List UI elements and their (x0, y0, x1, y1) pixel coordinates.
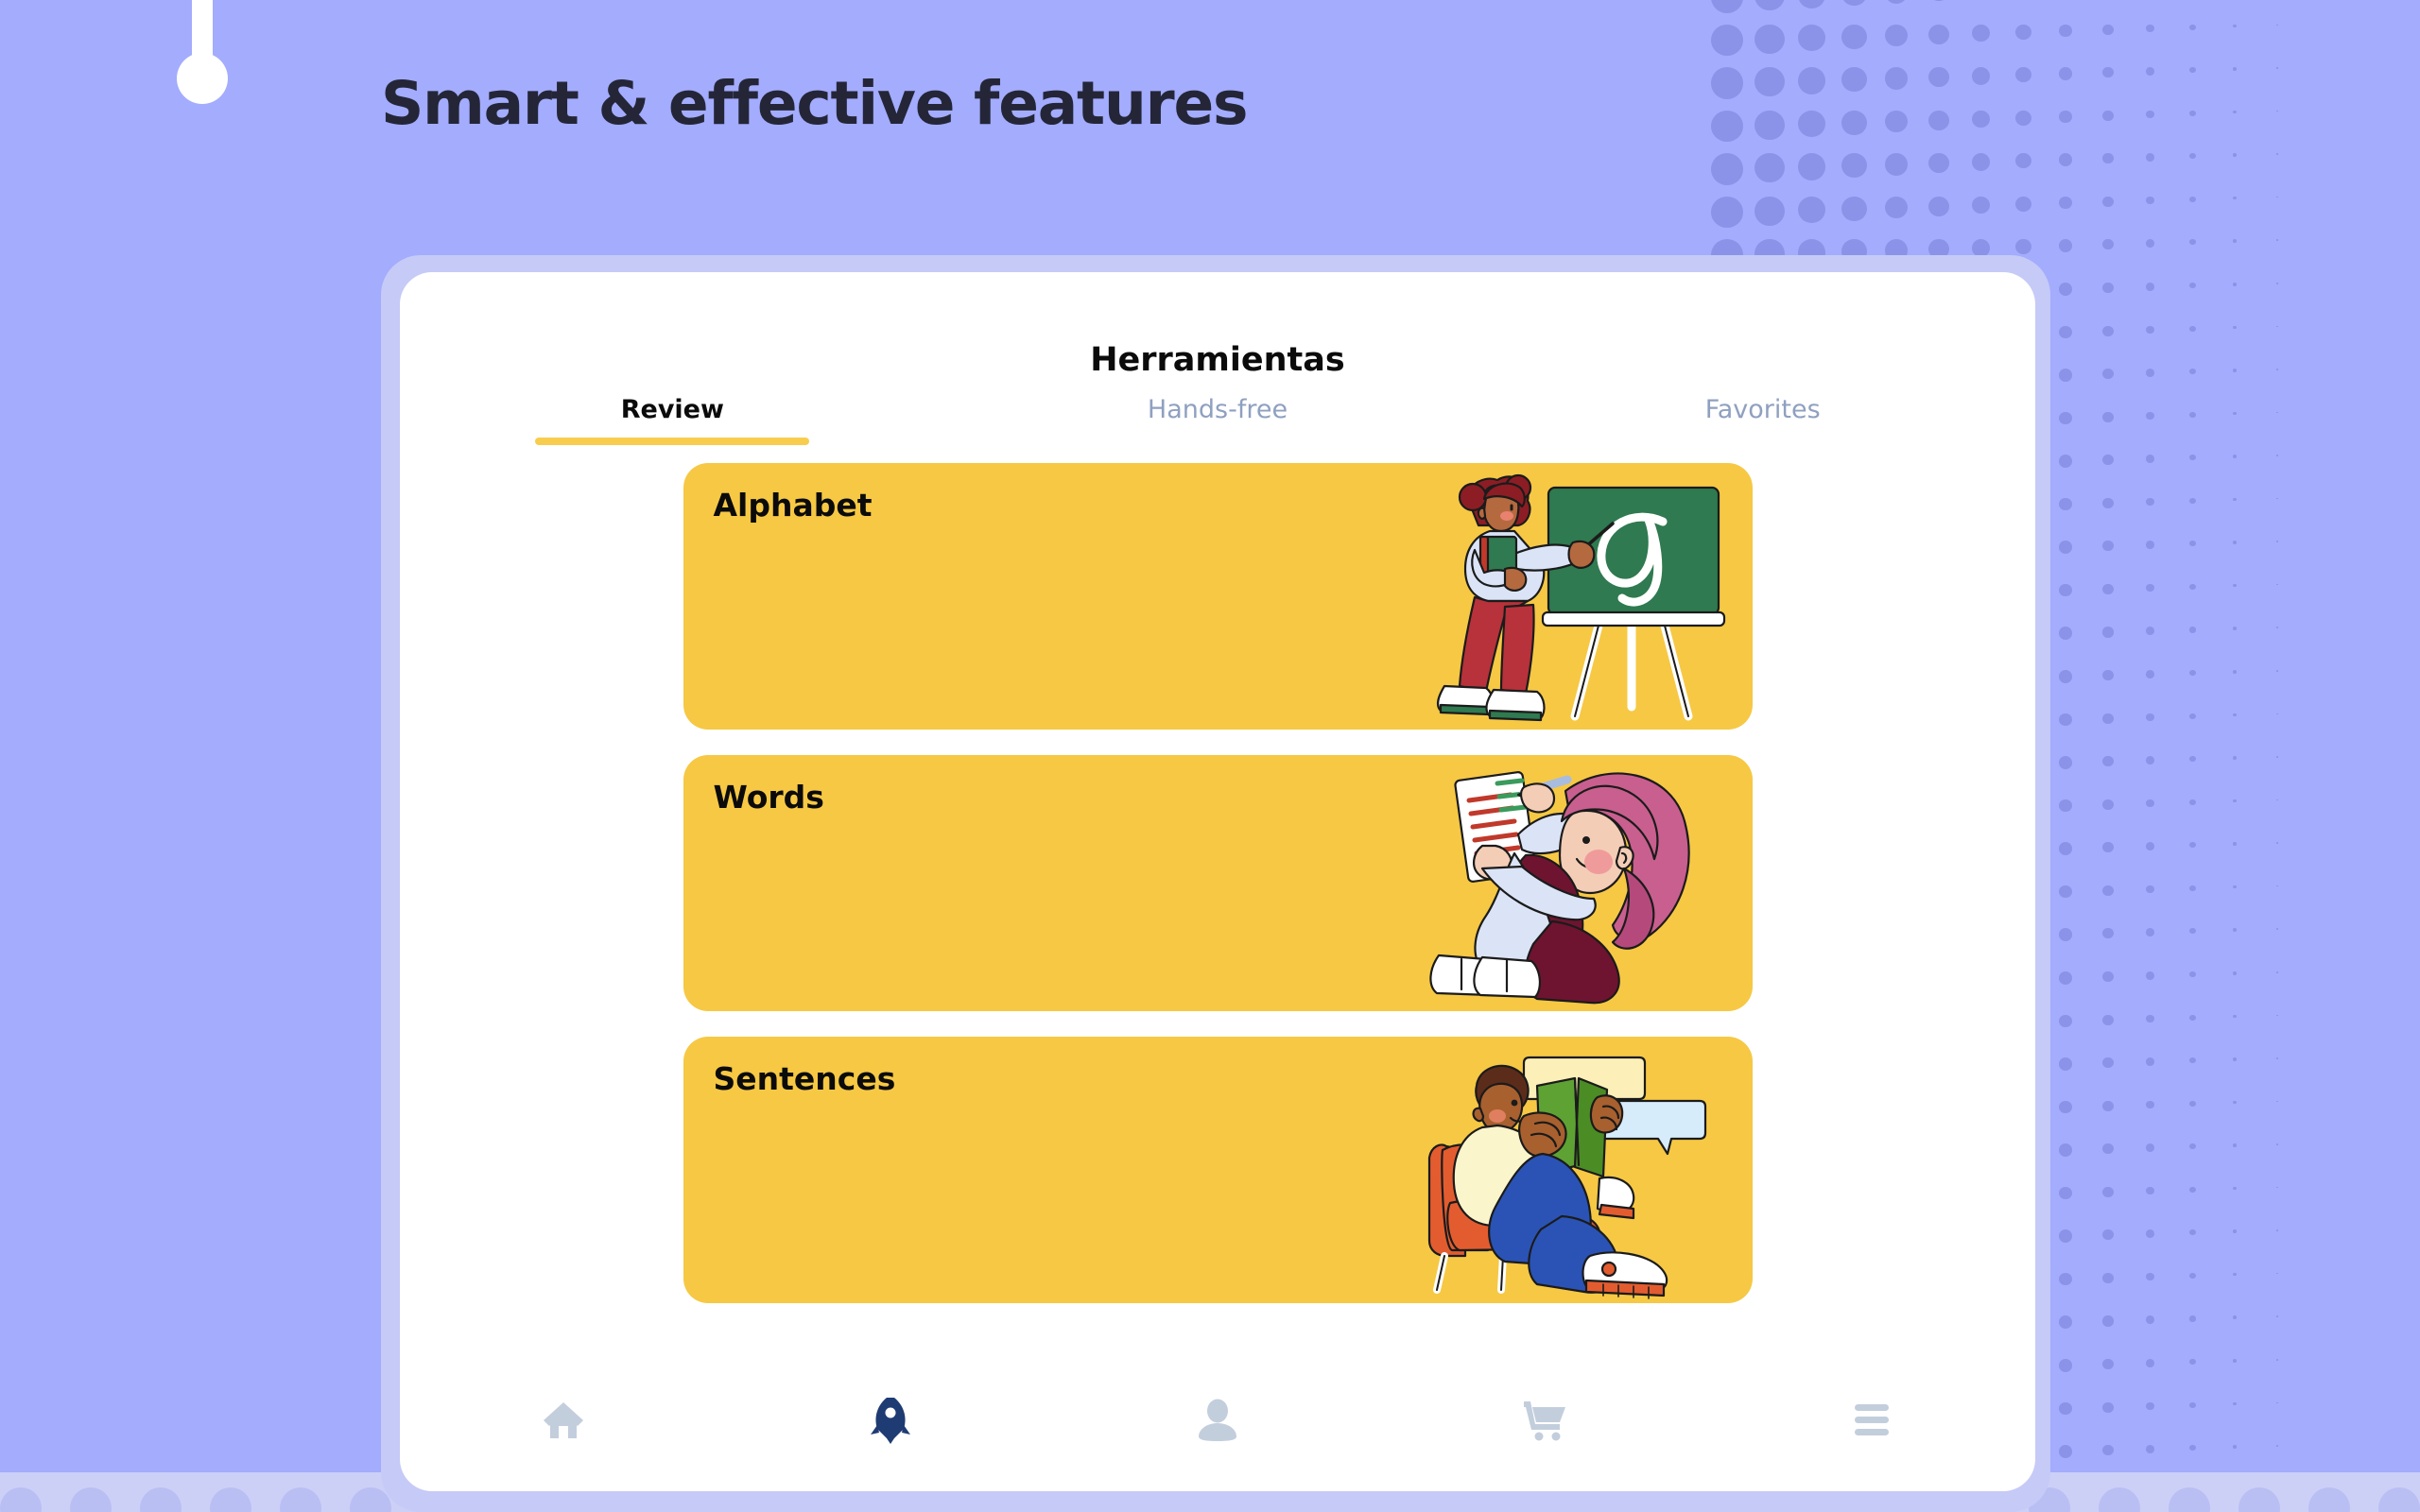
teacher-chalkboard-illustration (1424, 463, 1736, 730)
tab-hands-free[interactable]: Hands-free (945, 395, 1491, 445)
nav-item-menu[interactable] (1708, 1402, 2035, 1438)
feature-card-label: Sentences (714, 1060, 896, 1097)
person-reading-armchair-illustration (1424, 1037, 1736, 1303)
tab-favorites[interactable]: Favorites (1490, 395, 2035, 445)
rocket-icon (870, 1397, 911, 1444)
tab-hands-free-label: Hands-free (1148, 395, 1288, 424)
nav-item-cart[interactable] (1381, 1399, 1708, 1442)
feature-card-list: Alphabet (400, 463, 2035, 1329)
tab-review[interactable]: Review (400, 395, 945, 445)
feature-card-label: Words (714, 779, 824, 816)
tab-favorites-label: Favorites (1705, 395, 1821, 424)
timeline-pin-dot (177, 53, 228, 104)
feature-card-sentences[interactable]: Sentences (683, 1037, 1753, 1303)
nav-item-profile[interactable] (1054, 1399, 1381, 1442)
page-title: Smart & effective features (381, 74, 1247, 133)
person-icon (1197, 1399, 1238, 1442)
menu-icon (1853, 1402, 1891, 1438)
tab-active-underline (535, 438, 809, 445)
nav-item-rocket[interactable] (727, 1397, 1054, 1444)
feature-card-label: Alphabet (714, 487, 873, 524)
device-screen: Herramientas Review Hands-free Favorites… (400, 272, 2035, 1491)
tab-review-label: Review (621, 395, 724, 424)
home-icon (542, 1400, 585, 1441)
feature-card-alphabet[interactable]: Alphabet (683, 463, 1753, 730)
tab-bar: Review Hands-free Favorites (400, 395, 2035, 445)
feature-card-words[interactable]: Words (683, 755, 1753, 1011)
woman-writing-notepad-illustration (1424, 755, 1736, 1011)
bottom-navigation-bar (400, 1349, 2035, 1491)
cart-icon (1522, 1399, 1567, 1442)
nav-item-home[interactable] (400, 1400, 727, 1441)
app-title: Herramientas (400, 341, 2035, 379)
